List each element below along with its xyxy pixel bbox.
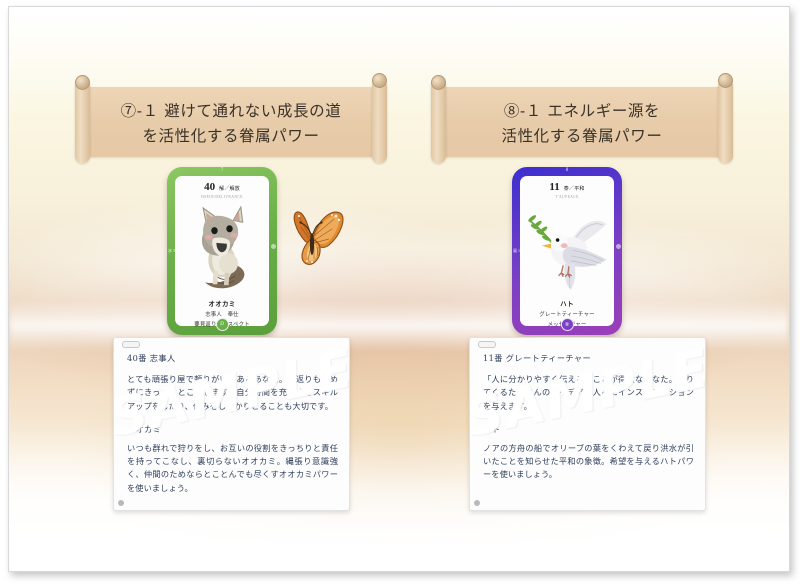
card-wolf-jp-keyword: 解／解放 — [219, 185, 240, 192]
card-dove-number: 11 — [549, 181, 559, 193]
banner-right: ⑧-１ エネルギー源を 活性化する眷属パワー — [427, 79, 737, 163]
card-dove-number-row: 11 泰／平和 — [549, 181, 584, 193]
banner-knob-top-right — [718, 73, 733, 88]
card-dove-name: ハト — [560, 298, 574, 308]
banner-left: ⑦-１ 避けて通れない成長の道 を活性化する眷属パワー — [71, 79, 391, 163]
panel-left-subheading: オオカミ — [127, 423, 338, 435]
card-dove-jp-keyword: 泰／平和 — [564, 185, 585, 192]
panel-left-paragraph2: いつも群れで狩りをし、お互いの役割をきっちりと責任を持ってこなし、裏切らないオオ… — [127, 442, 338, 495]
card-dove-face: 11 泰／平和 T'AI/PEACE — [520, 176, 614, 326]
description-panel-dove: SAMPLE 11番 グレートティーチャー 「人に分かりやすく伝える」ことが得意… — [469, 337, 706, 511]
wolf-icon — [175, 199, 269, 298]
panel-right-subheading: ハト — [483, 423, 694, 435]
panel-right-heading: 11番 グレートティーチャー — [483, 352, 694, 364]
card-dove-seal-wrap: ⑨ — [512, 316, 622, 334]
card-dove-side-dot — [616, 244, 621, 249]
panel-left-body: 40番 志事人 とても頑張り屋で頼りがいがあるあなた。見返りも求めずにきっちりと… — [114, 338, 349, 503]
banner-left-text: ⑦-１ 避けて通れない成長の道 を活性化する眷属パワー — [87, 91, 375, 157]
banner-right-line1: ⑧-１ エネルギー源を — [504, 102, 660, 121]
oracle-card-dove[interactable]: 8 風 11 11 泰／平和 T'AI/PEACE — [512, 167, 622, 335]
banner-right-line2: 活性化する眷属パワー — [501, 127, 662, 146]
card-wolf-number-row: 40 解／解放 — [204, 181, 240, 193]
card-wolf-seal: D — [216, 318, 229, 331]
card-wolf-seal-wrap: D — [167, 316, 277, 334]
butterfly-icon — [287, 203, 349, 269]
panel-left-heading: 40番 志事人 — [127, 352, 338, 364]
dove-icon — [520, 199, 614, 298]
description-panel-wolf: SAMPLE 40番 志事人 とても頑張り屋で頼りがいがあるあなた。見返りも求め… — [113, 337, 350, 511]
page-canvas: ⑦-１ 避けて通れない成長の道 を活性化する眷属パワー ⑧-１ エネルギー源を … — [8, 6, 790, 572]
panel-right-paragraph2: ノアの方舟の船でオリーブの葉をくわえて戻り洪水が引いたことを知らせた平和の象徴。… — [483, 442, 694, 482]
panel-right-body: 11番 グレートティーチャー 「人に分かりやすく伝える」ことが得意なあなた。降り… — [470, 338, 705, 490]
dove-illustration — [520, 199, 614, 298]
banner-left-line1: ⑦-１ 避けて通れない成長の道 — [121, 102, 342, 121]
butterfly-decoration — [287, 203, 349, 269]
card-dove-top-number: 8 — [512, 168, 622, 173]
banner-knob-top-left — [431, 75, 446, 90]
card-wolf-face: 40 解／解放 HSEIN/DELIVRANCE — [175, 176, 269, 326]
card-wolf-number: 40 — [204, 181, 215, 193]
wolf-illustration — [175, 199, 269, 298]
card-wolf-top-number: 7 — [167, 168, 277, 173]
card-wolf-side-dot — [271, 244, 276, 249]
banner-right-text: ⑧-１ エネルギー源を 活性化する眷属パワー — [443, 91, 721, 157]
panel-right-paragraph1: 「人に分かりやすく伝える」ことが得意なあなた。降りてくるたくさんのアイデアで人々… — [483, 373, 694, 413]
banner-left-line2: を活性化する眷属パワー — [142, 127, 319, 146]
oracle-card-wolf[interactable]: 7 水 37 40 解／解放 HSEIN/DELIVRANCE — [167, 167, 277, 335]
banner-knob-top-left — [75, 75, 90, 90]
panel-left-paragraph1: とても頑張り屋で頼りがいがあるあなた。見返りも求めずにきっちりとこなします。自分… — [127, 373, 338, 413]
card-wolf-name: オオカミ — [208, 298, 235, 308]
panel-pin-icon — [474, 500, 480, 506]
card-dove-seal: ⑨ — [561, 318, 574, 331]
banner-knob-top-right — [372, 73, 387, 88]
